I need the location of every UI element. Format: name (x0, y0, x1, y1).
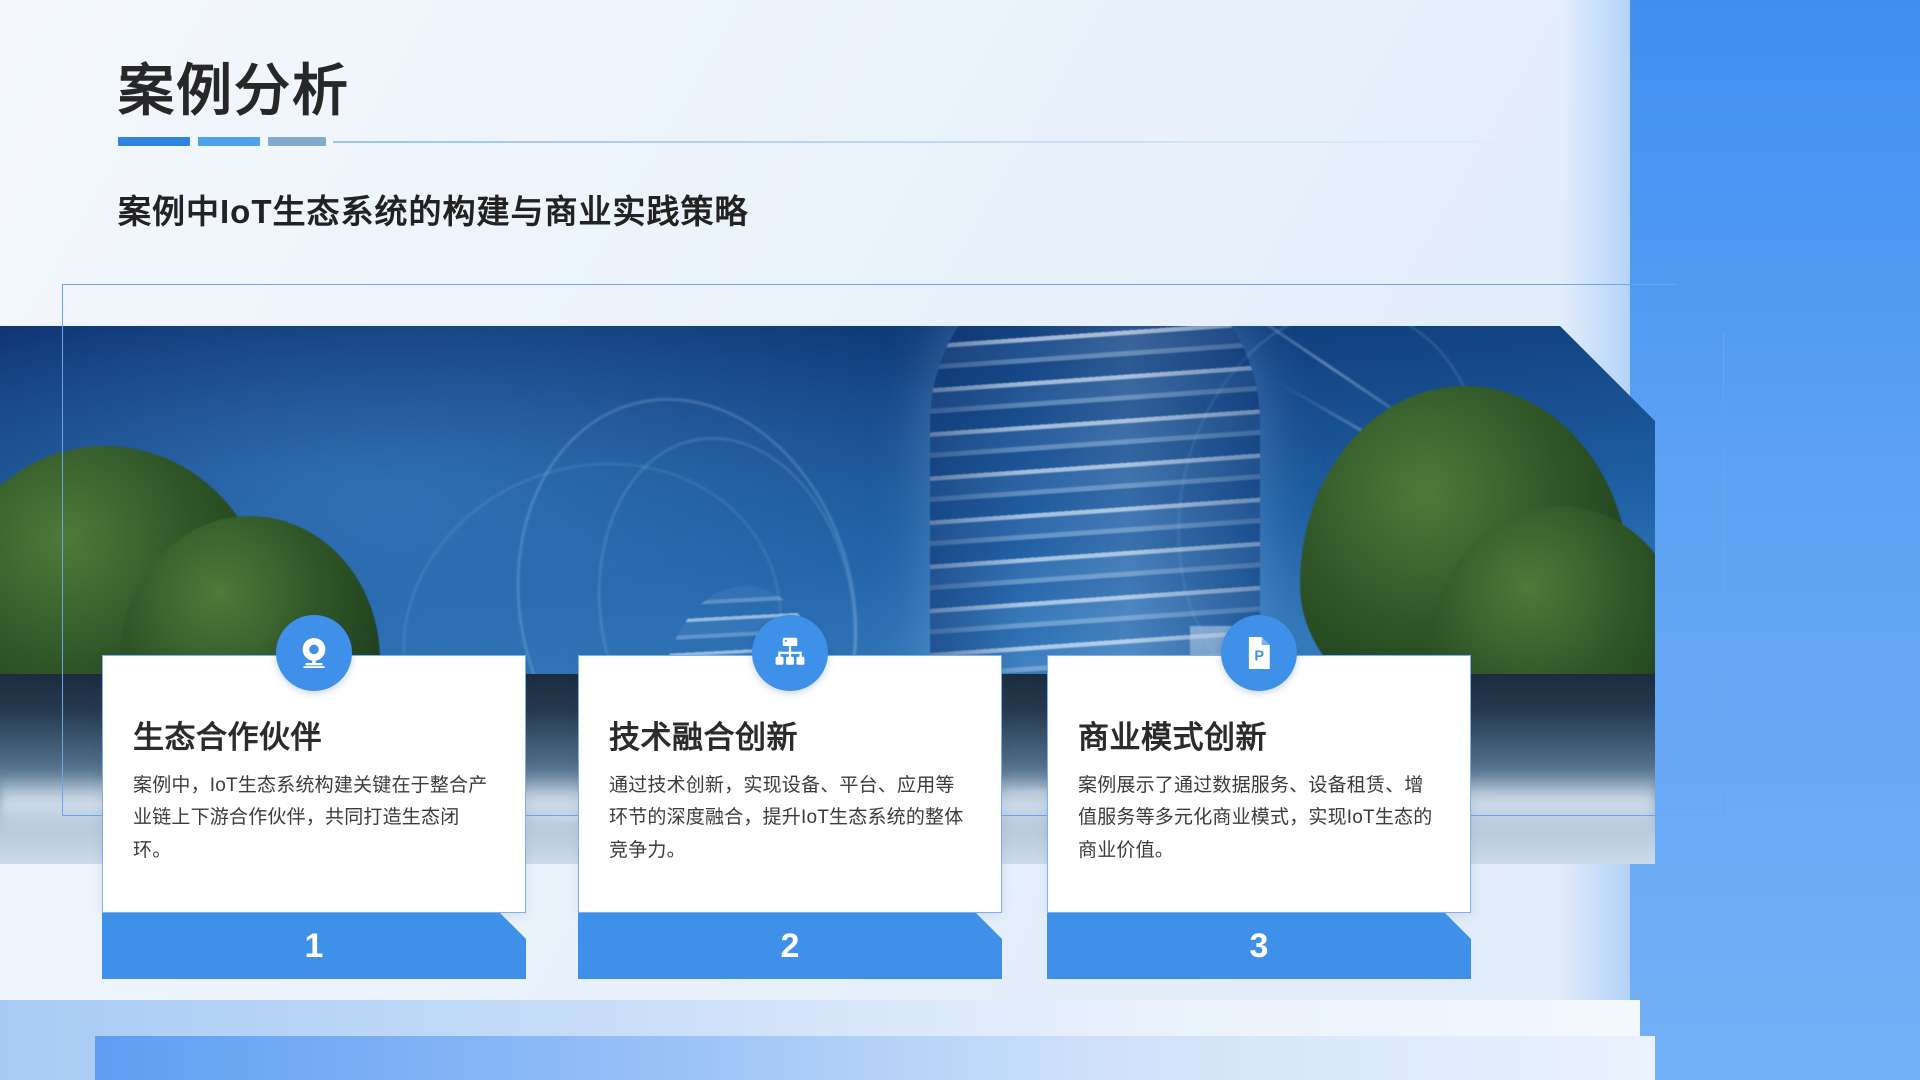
feature-card-3-body: P 商业模式创新 案例展示了通过数据服务、设备租赁、增值服务等多元化商业模式，实… (1047, 655, 1471, 913)
feature-card-3-text: 案例展示了通过数据服务、设备租赁、增值服务等多元化商业模式，实现IoT生态的商业… (1078, 770, 1440, 868)
feature-card-2-body: 技术融合创新 通过技术创新，实现设备、平台、应用等环节的深度融合，提升IoT生态… (578, 655, 1002, 913)
feature-card-3-title: 商业模式创新 (1078, 720, 1440, 756)
feature-card-1-number: 1 (305, 929, 324, 963)
feature-card-3[interactable]: P 商业模式创新 案例展示了通过数据服务、设备租赁、增值服务等多元化商业模式，实… (1047, 655, 1471, 979)
underline-thin-line (333, 141, 1518, 143)
underline-segment-3 (268, 137, 326, 146)
feature-card-1[interactable]: 生态合作伙伴 案例中，IoT生态系统构建关键在于整合产业链上下游合作伙伴，共同打… (102, 655, 526, 979)
feature-card-2-title: 技术融合创新 (609, 720, 971, 756)
header: 案例分析 案例中IoT生态系统的构建与商业实践策略 (118, 62, 1518, 233)
svg-text:P: P (1254, 648, 1264, 664)
feature-card-2[interactable]: 技术融合创新 通过技术创新，实现设备、平台、应用等环节的深度融合，提升IoT生态… (578, 655, 1002, 979)
feature-card-2-number-bar: 2 (578, 913, 1002, 979)
feature-card-1-text: 案例中，IoT生态系统构建关键在于整合产业链上下游合作伙伴，共同打造生态闭环。 (133, 770, 495, 868)
feature-card-1-title: 生态合作伙伴 (133, 720, 495, 756)
feature-card-2-number: 2 (781, 929, 800, 963)
right-accent-panel (1630, 0, 1920, 1080)
feature-card-3-number: 3 (1250, 929, 1269, 963)
feature-card-3-number-bar: 3 (1047, 913, 1471, 979)
title-underline-decoration (118, 135, 1518, 147)
feature-card-1-number-bar: 1 (102, 913, 526, 979)
feature-card-2-text: 通过技术创新，实现设备、平台、应用等环节的深度融合，提升IoT生态系统的整体竞争… (609, 770, 971, 868)
webcam-icon (276, 615, 352, 691)
slide-canvas: 案例分析 案例中IoT生态系统的构建与商业实践策略 (0, 0, 1920, 1080)
underline-segment-1 (118, 137, 190, 146)
page-subtitle: 案例中IoT生态系统的构建与商业实践策略 (118, 185, 1518, 233)
presentation-file-icon: P (1221, 615, 1297, 691)
feature-card-1-body: 生态合作伙伴 案例中，IoT生态系统构建关键在于整合产业链上下游合作伙伴，共同打… (102, 655, 526, 913)
bottom-decoration-band-inner (95, 1036, 1655, 1080)
sitemap-icon (752, 615, 828, 691)
underline-segment-2 (198, 137, 260, 146)
page-title: 案例分析 (118, 62, 1518, 121)
